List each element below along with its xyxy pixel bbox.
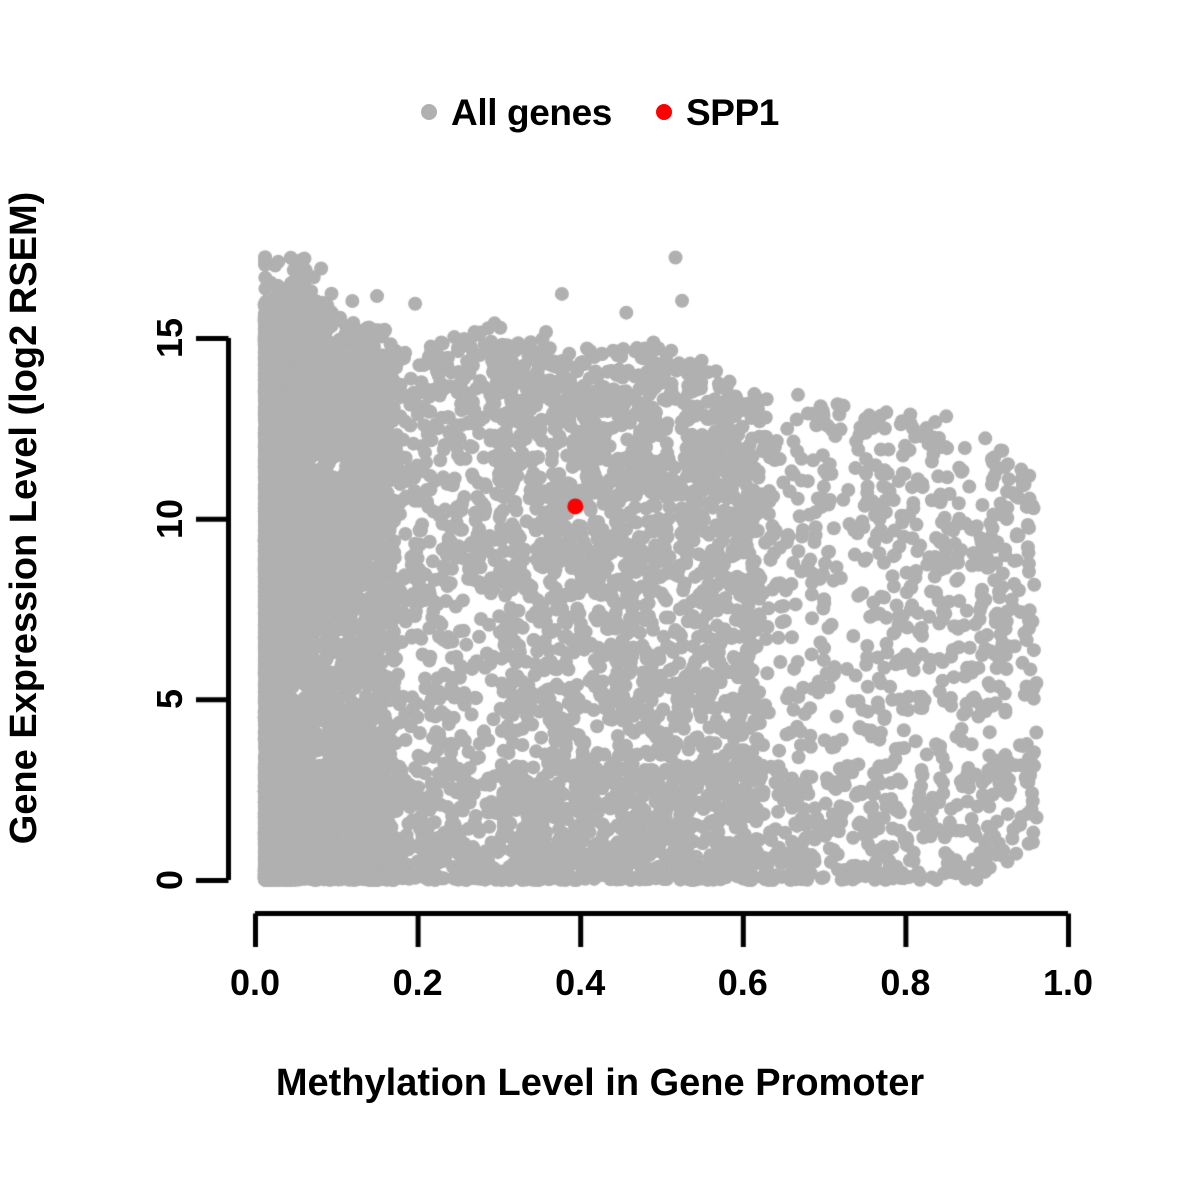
scatter-plot-canvas	[0, 0, 1200, 1200]
scatter-plot-figure: All genes SPP1 0.00.20.40.60.81.0 051015…	[0, 0, 1200, 1200]
